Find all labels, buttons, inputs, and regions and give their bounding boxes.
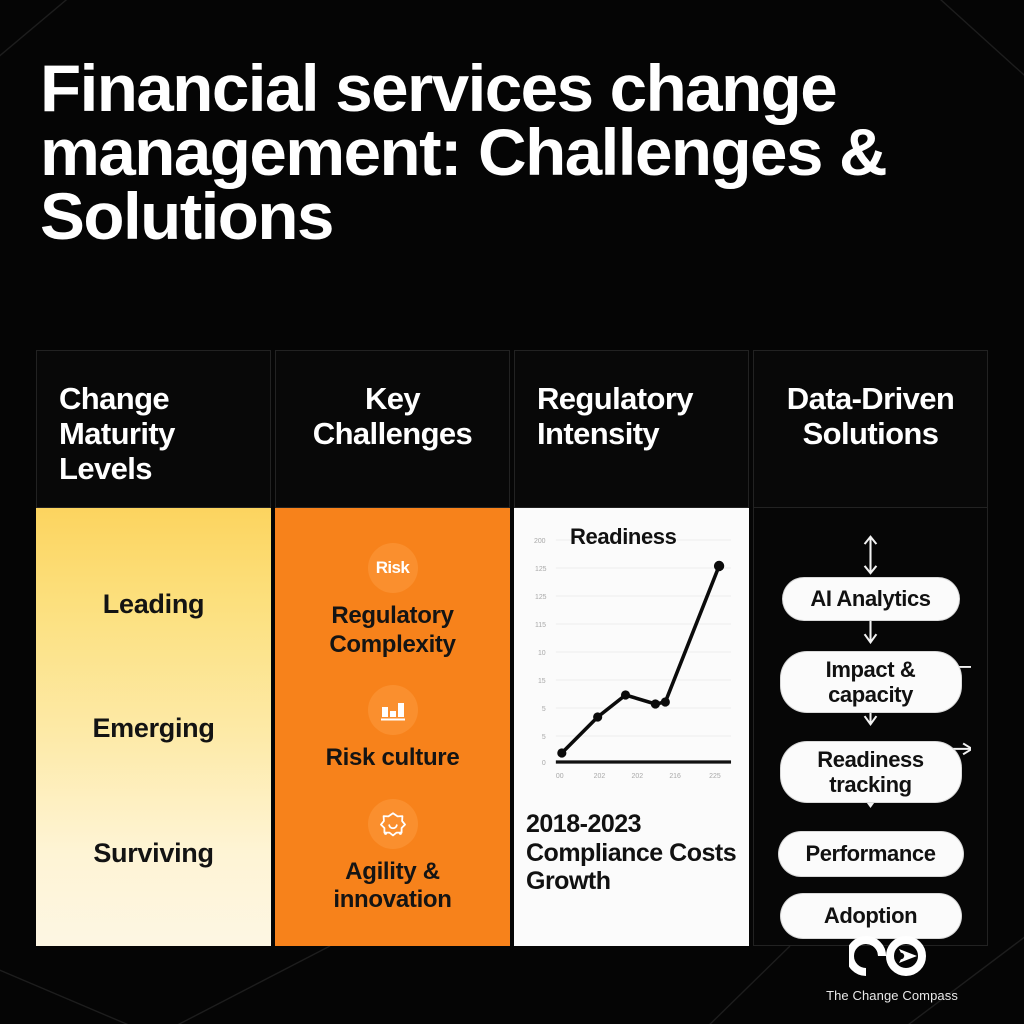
bar-chart-icon xyxy=(368,685,418,735)
svg-text:125: 125 xyxy=(535,566,547,573)
svg-text:216: 216 xyxy=(669,773,681,780)
svg-text:202: 202 xyxy=(632,773,644,780)
challenge-regulatory-complexity: Risk Regulatory Complexity xyxy=(295,543,490,658)
svg-text:225: 225 xyxy=(709,773,721,780)
infographic-columns: Change Maturity Levels Leading Emerging … xyxy=(36,350,988,946)
maturity-level-leading: Leading xyxy=(103,589,204,620)
maturity-gradient-panel: Leading Emerging Surviving xyxy=(36,508,271,946)
svg-text:5: 5 xyxy=(542,734,546,741)
brand-name: The Change Compass xyxy=(792,988,992,1003)
column-key-challenges: Key Challenges Risk Regulatory Complexit… xyxy=(275,350,510,946)
column-header-regulatory-intensity: Regulatory Intensity xyxy=(514,350,749,508)
solution-pill-performance[interactable]: Performance xyxy=(779,832,963,876)
brand-logo: The Change Compass xyxy=(792,930,992,1003)
change-compass-logo-icon xyxy=(792,930,992,982)
line-chart: Readiness 200 xyxy=(526,522,737,794)
column-header-data-driven-solutions: Data-Driven Solutions xyxy=(753,350,988,508)
svg-text:200: 200 xyxy=(534,538,546,545)
maturity-level-surviving: Surviving xyxy=(93,838,213,869)
challenge-label: Regulatory Complexity xyxy=(295,602,490,658)
chart-line-readiness xyxy=(562,566,719,753)
column-regulatory-intensity: Regulatory Intensity Readiness xyxy=(514,350,749,946)
svg-text:115: 115 xyxy=(535,622,546,629)
challenge-agility-innovation: Agility & innovation xyxy=(295,799,490,914)
column-header-key-challenges: Key Challenges xyxy=(275,350,510,508)
chart-x-axis-labels: 00 202 202 216 225 xyxy=(556,773,721,780)
svg-text:5: 5 xyxy=(542,706,546,713)
chart-data-points xyxy=(557,561,724,758)
column-change-maturity-levels: Change Maturity Levels Leading Emerging … xyxy=(36,350,271,946)
challenge-risk-culture: Risk culture xyxy=(326,685,460,772)
page-title: Financial services change management: Ch… xyxy=(40,56,1019,248)
chart-gridlines xyxy=(556,540,731,736)
compliance-cost-chart-card: Readiness 200 xyxy=(514,508,749,946)
column-heading: Change Maturity Levels xyxy=(59,381,248,486)
solution-pill-impact-capacity[interactable]: Impact & capacity xyxy=(781,652,961,712)
column-heading: Key Challenges xyxy=(298,381,487,451)
svg-text:15: 15 xyxy=(538,678,546,685)
column-data-driven-solutions: Data-Driven Solutions xyxy=(753,350,988,946)
svg-text:202: 202 xyxy=(594,773,606,780)
challenge-label: Agility & innovation xyxy=(295,858,490,914)
solutions-flow-panel: AI Analytics Impact & capacity Readiness… xyxy=(753,508,988,946)
svg-text:125: 125 xyxy=(535,594,547,601)
challenge-label: Risk culture xyxy=(326,744,460,772)
column-heading: Regulatory Intensity xyxy=(537,381,726,451)
column-header-change-maturity-levels: Change Maturity Levels xyxy=(36,350,271,508)
star-gear-icon xyxy=(368,799,418,849)
key-challenges-panel: Risk Regulatory Complexity Risk culture xyxy=(275,508,510,946)
chart-title: Readiness xyxy=(570,524,676,550)
solution-pill-readiness-tracking[interactable]: Readiness tracking xyxy=(781,742,961,802)
risk-badge-icon: Risk xyxy=(368,543,418,593)
maturity-level-emerging: Emerging xyxy=(92,713,214,744)
svg-text:0: 0 xyxy=(542,760,546,767)
risk-badge-label: Risk xyxy=(376,558,410,578)
solution-pill-ai-analytics[interactable]: AI Analytics xyxy=(783,578,959,620)
chart-y-axis-labels: 200 125 125 115 10 15 5 5 0 xyxy=(534,538,547,767)
column-heading: Data-Driven Solutions xyxy=(776,381,965,451)
chart-svg: 200 125 125 115 10 15 5 5 0 00 xyxy=(526,522,737,794)
svg-text:00: 00 xyxy=(556,773,564,780)
chart-caption: 2018-2023 Compliance Costs Growth xyxy=(526,810,737,896)
svg-text:10: 10 xyxy=(538,650,546,657)
